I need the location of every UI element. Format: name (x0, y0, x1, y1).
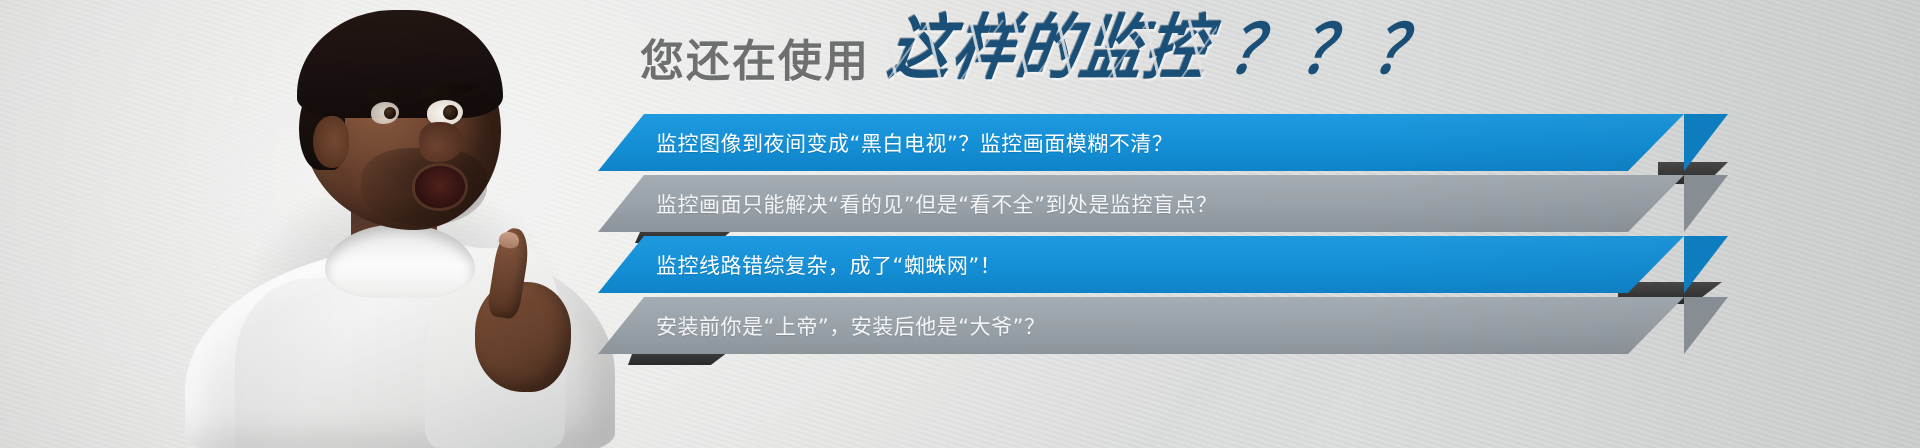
bar-row-1: 监控图像到夜间变成“黑白电视”？监控画面模糊不清？ (0, 114, 1920, 171)
headline-question-marks: ？？？ (1224, 17, 1451, 84)
bar-row-3: 监控线路错综复杂，成了“蜘蛛网”！ (0, 236, 1920, 293)
promo-banner: 您还在使用 这样的监控 ？？？ 监控图像到夜间变成“黑白电视”？监控画面模糊不清… (0, 0, 1920, 448)
bullet-bar-2[interactable]: 监控画面只能解决“看的见”但是“看不全”到处是监控盲点？ (598, 175, 1684, 232)
headline-stylized-text: 这样的监控 (884, 13, 1215, 84)
bullet-text-3: 监控线路错综复杂，成了“蜘蛛网”！ (656, 250, 1001, 280)
bullet-text-2: 监控画面只能解决“看的见”但是“看不全”到处是监控盲点？ (656, 189, 1218, 219)
bar-row-2: 监控画面只能解决“看的见”但是“看不全”到处是监控盲点？ (0, 175, 1920, 232)
bar-row-4: 安装前你是“上帝”，安装后他是“大爷”？ (0, 297, 1920, 354)
arrow-tip-2 (1684, 175, 1728, 232)
bullet-text-1: 监控图像到夜间变成“黑白电视”？监控画面模糊不清？ (656, 128, 1173, 158)
bullet-bars: 监控图像到夜间变成“黑白电视”？监控画面模糊不清？ 监控画面只能解决“看的见”但… (0, 114, 1920, 358)
arrow-tip-4 (1684, 297, 1728, 354)
bullet-text-4: 安装前你是“上帝”，安装后他是“大爷”？ (656, 311, 1046, 341)
headline-plain-text: 您还在使用 (640, 40, 870, 84)
arrow-tip-3 (1684, 236, 1728, 293)
arrow-tip-1 (1684, 114, 1728, 171)
bullet-bar-1[interactable]: 监控图像到夜间变成“黑白电视”？监控画面模糊不清？ (598, 114, 1684, 171)
bullet-bar-3[interactable]: 监控线路错综复杂，成了“蜘蛛网”！ (598, 236, 1684, 293)
bullet-bar-4[interactable]: 安装前你是“上帝”，安装后他是“大爷”？ (598, 297, 1684, 354)
headline: 您还在使用 这样的监控 ？？？ (640, 22, 1440, 84)
